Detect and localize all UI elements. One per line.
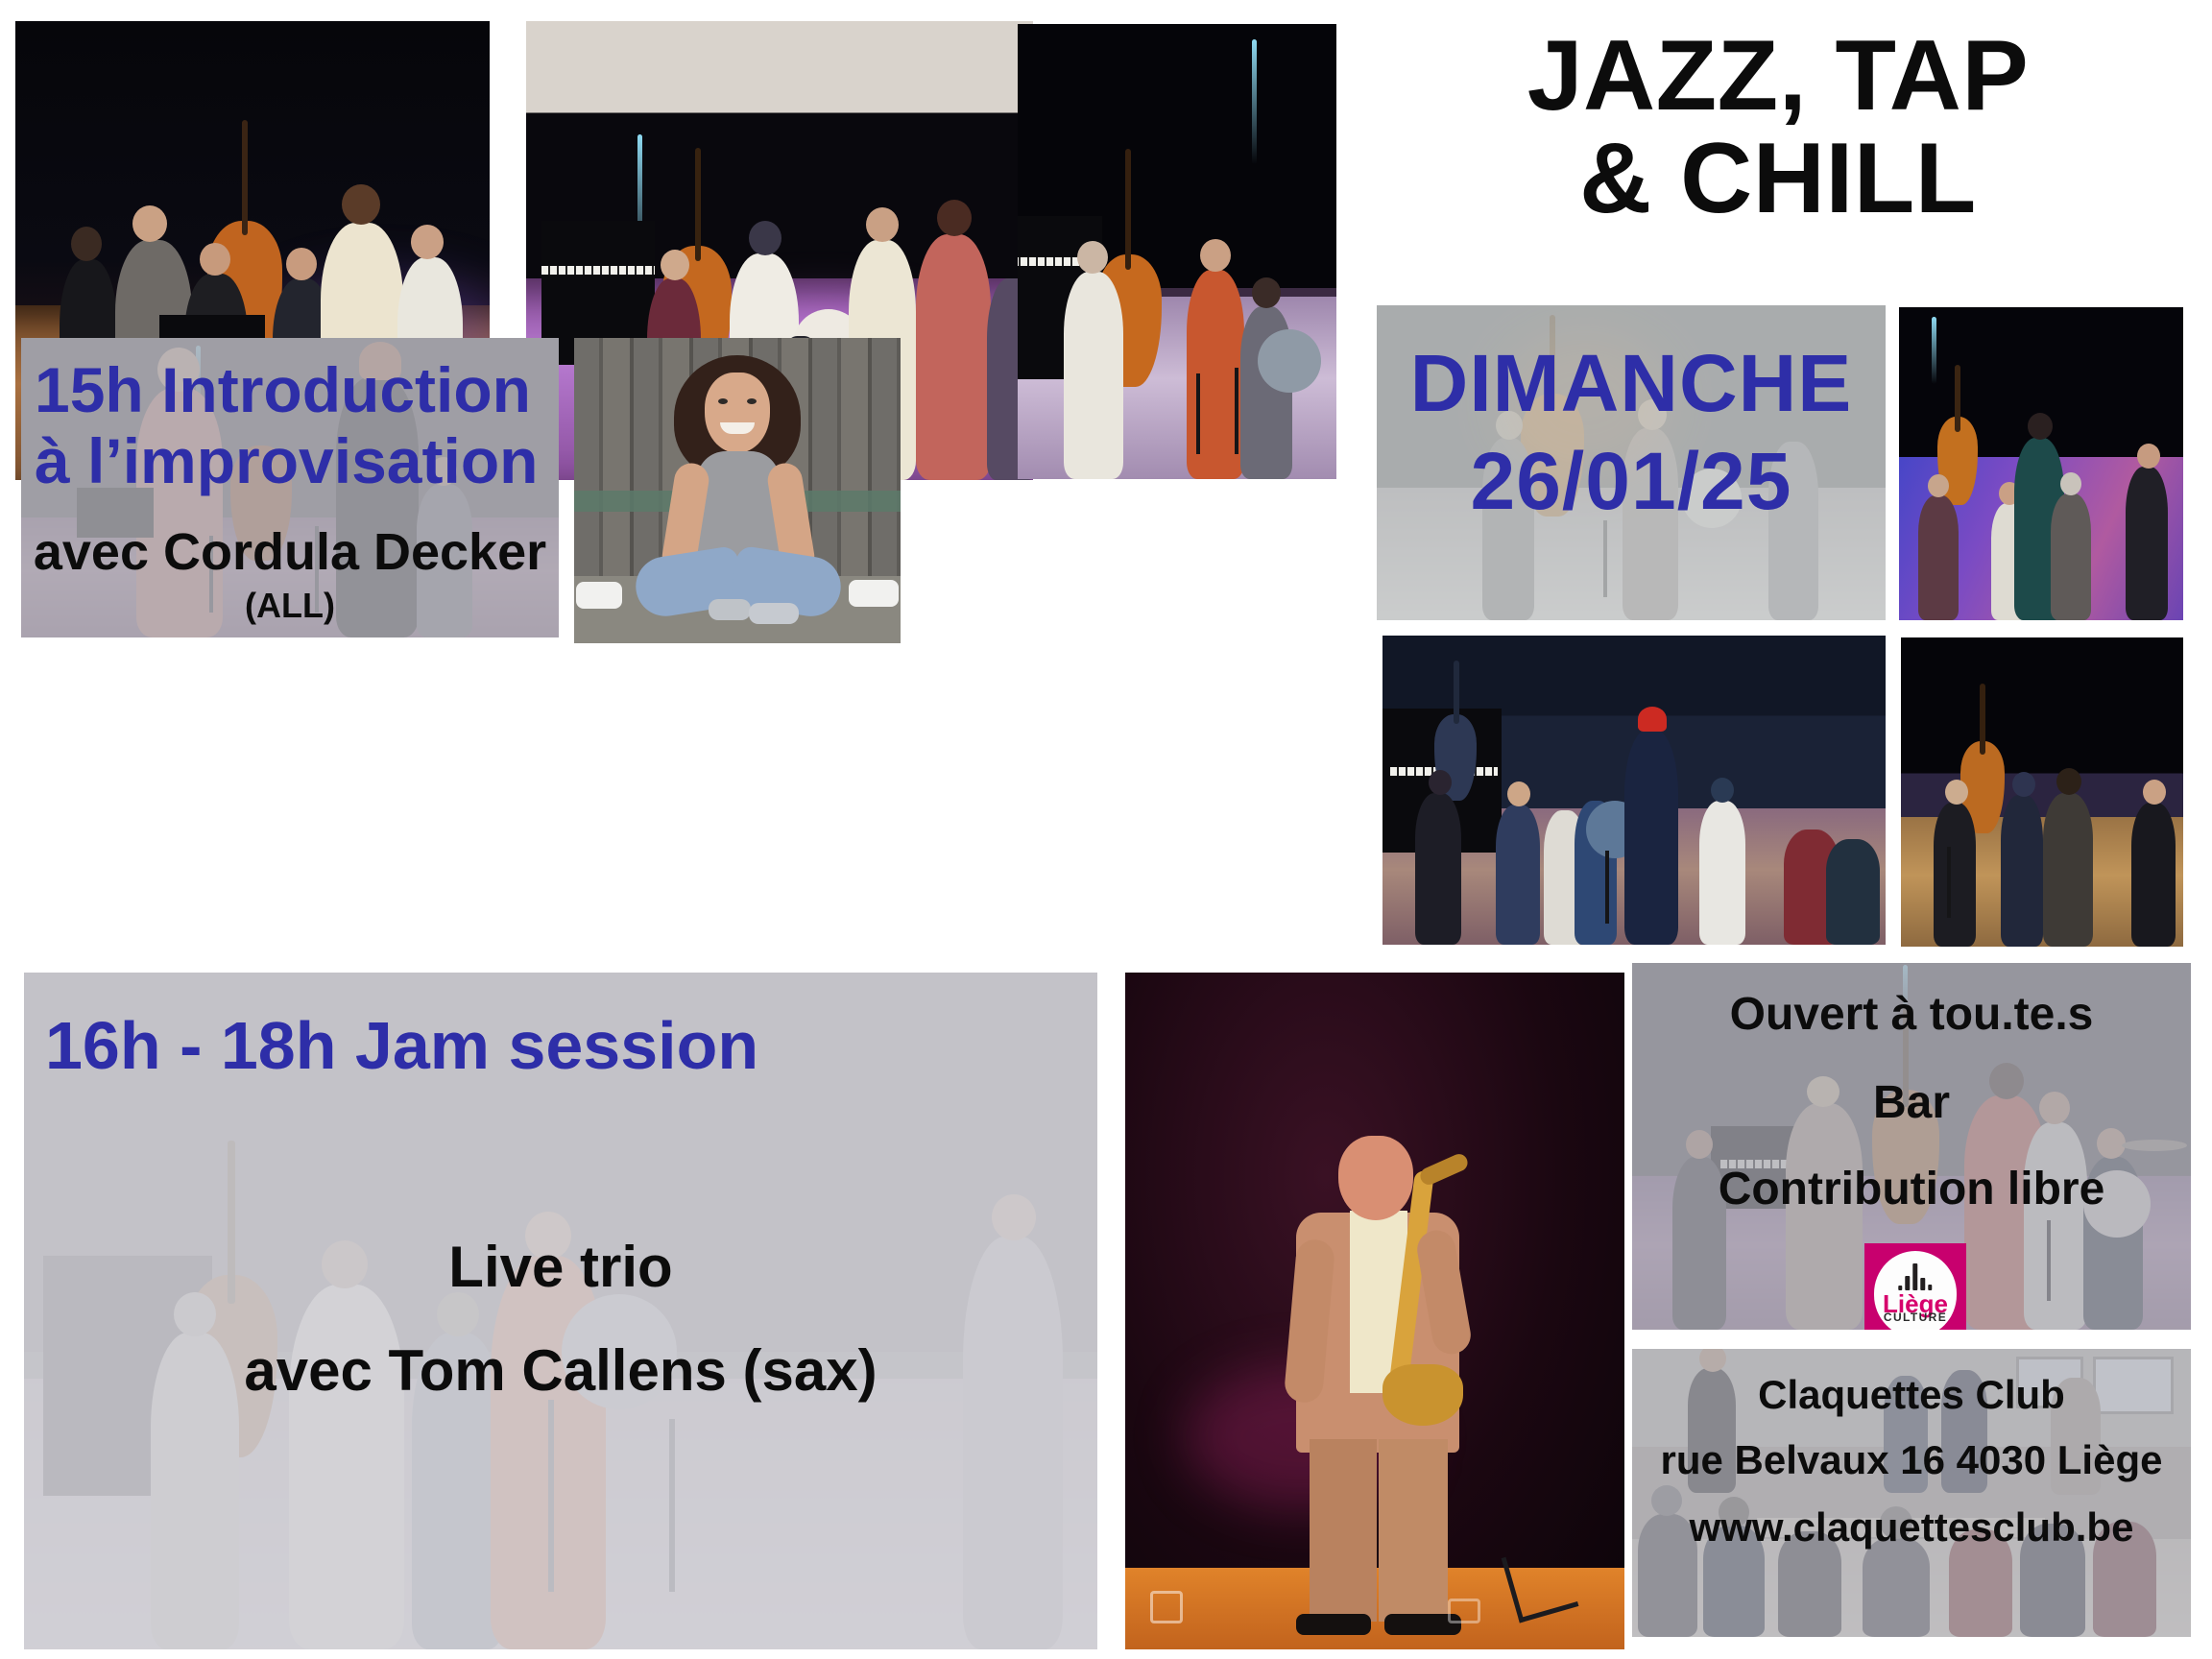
workshop-panel: 15h Introduction à l’improvisation avec … xyxy=(21,338,559,637)
info-line-2: Bar xyxy=(1632,1076,2191,1129)
venue-line-1: Claquettes Club xyxy=(1632,1372,2191,1418)
venue-panel: Claquettes Club rue Belvaux 16 4030 Lièg… xyxy=(1632,1349,2191,1637)
logo-subtitle: CULTURE xyxy=(1864,1310,1966,1324)
poster-title: JAZZ, TAP & CHILL xyxy=(1344,25,2212,230)
workshop-heading: 15h Introduction à l’improvisation xyxy=(35,355,559,497)
jam-panel: 16h - 18h Jam session Live trio avec Tom… xyxy=(24,973,1097,1649)
photo-cordula-decker-portrait xyxy=(574,338,901,643)
logo-bars-icon xyxy=(1886,1263,1944,1290)
jam-lineup-line-1: Live trio xyxy=(24,1234,1097,1300)
jam-heading: 16h - 18h Jam session xyxy=(45,1009,1097,1083)
venue-line-3: www.claquettesclub.be xyxy=(1632,1504,2191,1551)
date-panel: DIMANCHE 26/01/25 xyxy=(1377,305,1886,620)
jam-lineup-line-2: avec Tom Callens (sax) xyxy=(24,1337,1097,1404)
date-line-1: DIMANCHE xyxy=(1377,334,1886,432)
photo-tap-duo-purple-floor xyxy=(1899,307,2183,620)
photo-kid-tap-dancing xyxy=(1901,637,2183,947)
poster-canvas: JAZZ, TAP & CHILL DIMANCHE 26/01/25 xyxy=(0,0,2212,1659)
workshop-heading-line-2: à l’improvisation xyxy=(35,426,559,497)
title-line-1: JAZZ, TAP xyxy=(1344,25,2212,128)
date-line-2: 26/01/25 xyxy=(1377,432,1886,530)
info-line-1: Ouvert à tou.te.s xyxy=(1632,988,2191,1041)
date-text: DIMANCHE 26/01/25 xyxy=(1377,334,1886,531)
photo-jam-trio-stage xyxy=(1018,24,1336,479)
photo-jam-audience-redcap xyxy=(1382,636,1886,945)
workshop-language-note: (ALL) xyxy=(21,586,559,625)
title-line-2: & CHILL xyxy=(1344,128,2212,230)
venue-line-2: rue Belvaux 16 4030 Liège xyxy=(1632,1437,2191,1483)
workshop-heading-line-1: 15h Introduction xyxy=(35,355,559,426)
info-panel: Ouvert à tou.te.s Bar Contribution libre… xyxy=(1632,963,2191,1330)
photo-tom-callens-sax xyxy=(1125,973,1624,1649)
liege-culture-logo: Liège CULTURE xyxy=(1864,1243,1966,1330)
workshop-with: avec Cordula Decker xyxy=(21,522,559,582)
info-line-3: Contribution libre xyxy=(1632,1163,2191,1215)
